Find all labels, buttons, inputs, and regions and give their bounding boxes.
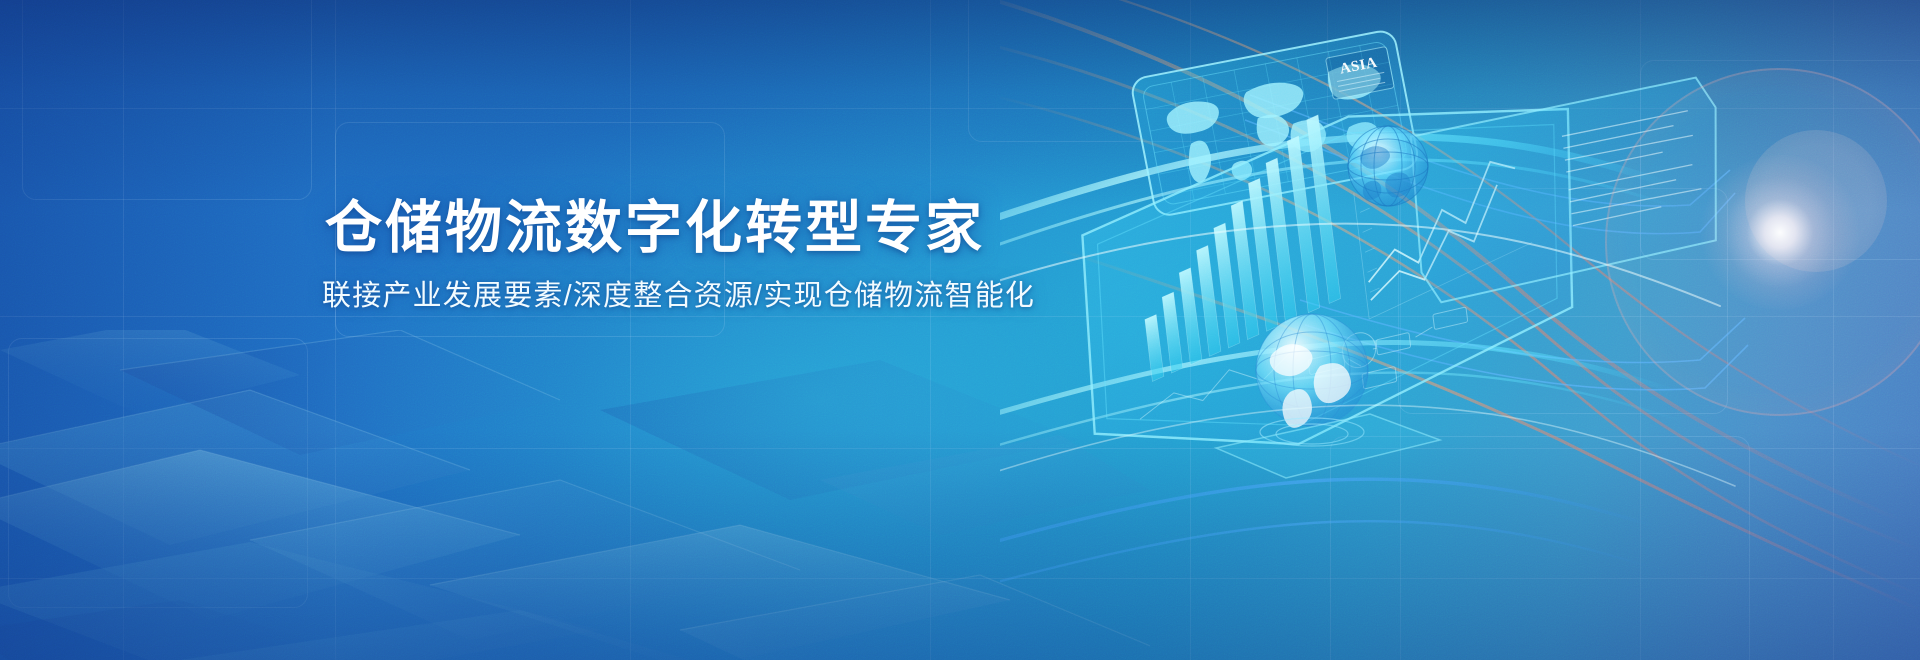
lens-flare-ghost: [1745, 130, 1887, 272]
line-chart: [1358, 156, 1527, 300]
background-grid: [0, 0, 1920, 660]
readout-text-lines: [1561, 110, 1704, 225]
bottom-vignette: [0, 430, 1920, 660]
hero-banner: ASIA: [0, 0, 1920, 660]
low-poly-facets: [0, 330, 1150, 660]
asia-label: ASIA: [1325, 46, 1394, 99]
data-dashboard-panel: [1063, 59, 1601, 490]
bar-chart: [1125, 115, 1345, 382]
banner-copy: 仓储物流数字化转型专家 联接产业发展要素/深度整合资源/实现仓储物流智能化: [0, 0, 1920, 660]
lens-flare-ring: [1605, 68, 1920, 416]
svg-text:ASIA: ASIA: [1338, 55, 1378, 78]
world-map-panel: ASIA: [1130, 29, 1420, 218]
lens-flare: [1700, 155, 1860, 310]
film-grain: [0, 0, 1920, 660]
page-title: 仓储物流数字化转型专家: [325, 195, 985, 261]
page-subtitle: 联接产业发展要素/深度整合资源/实现仓储物流智能化: [322, 277, 1035, 315]
top-vignette: [0, 0, 1920, 210]
wireframe-globe-upper: [1348, 126, 1428, 206]
tech-hologram-artwork: ASIA: [1000, 0, 1920, 660]
left-vignette: [0, 0, 340, 660]
flow-diagram: [1136, 307, 1473, 440]
wireframe-globe-lower: [1216, 314, 1440, 478]
text-readout-panel: [1402, 76, 1735, 305]
